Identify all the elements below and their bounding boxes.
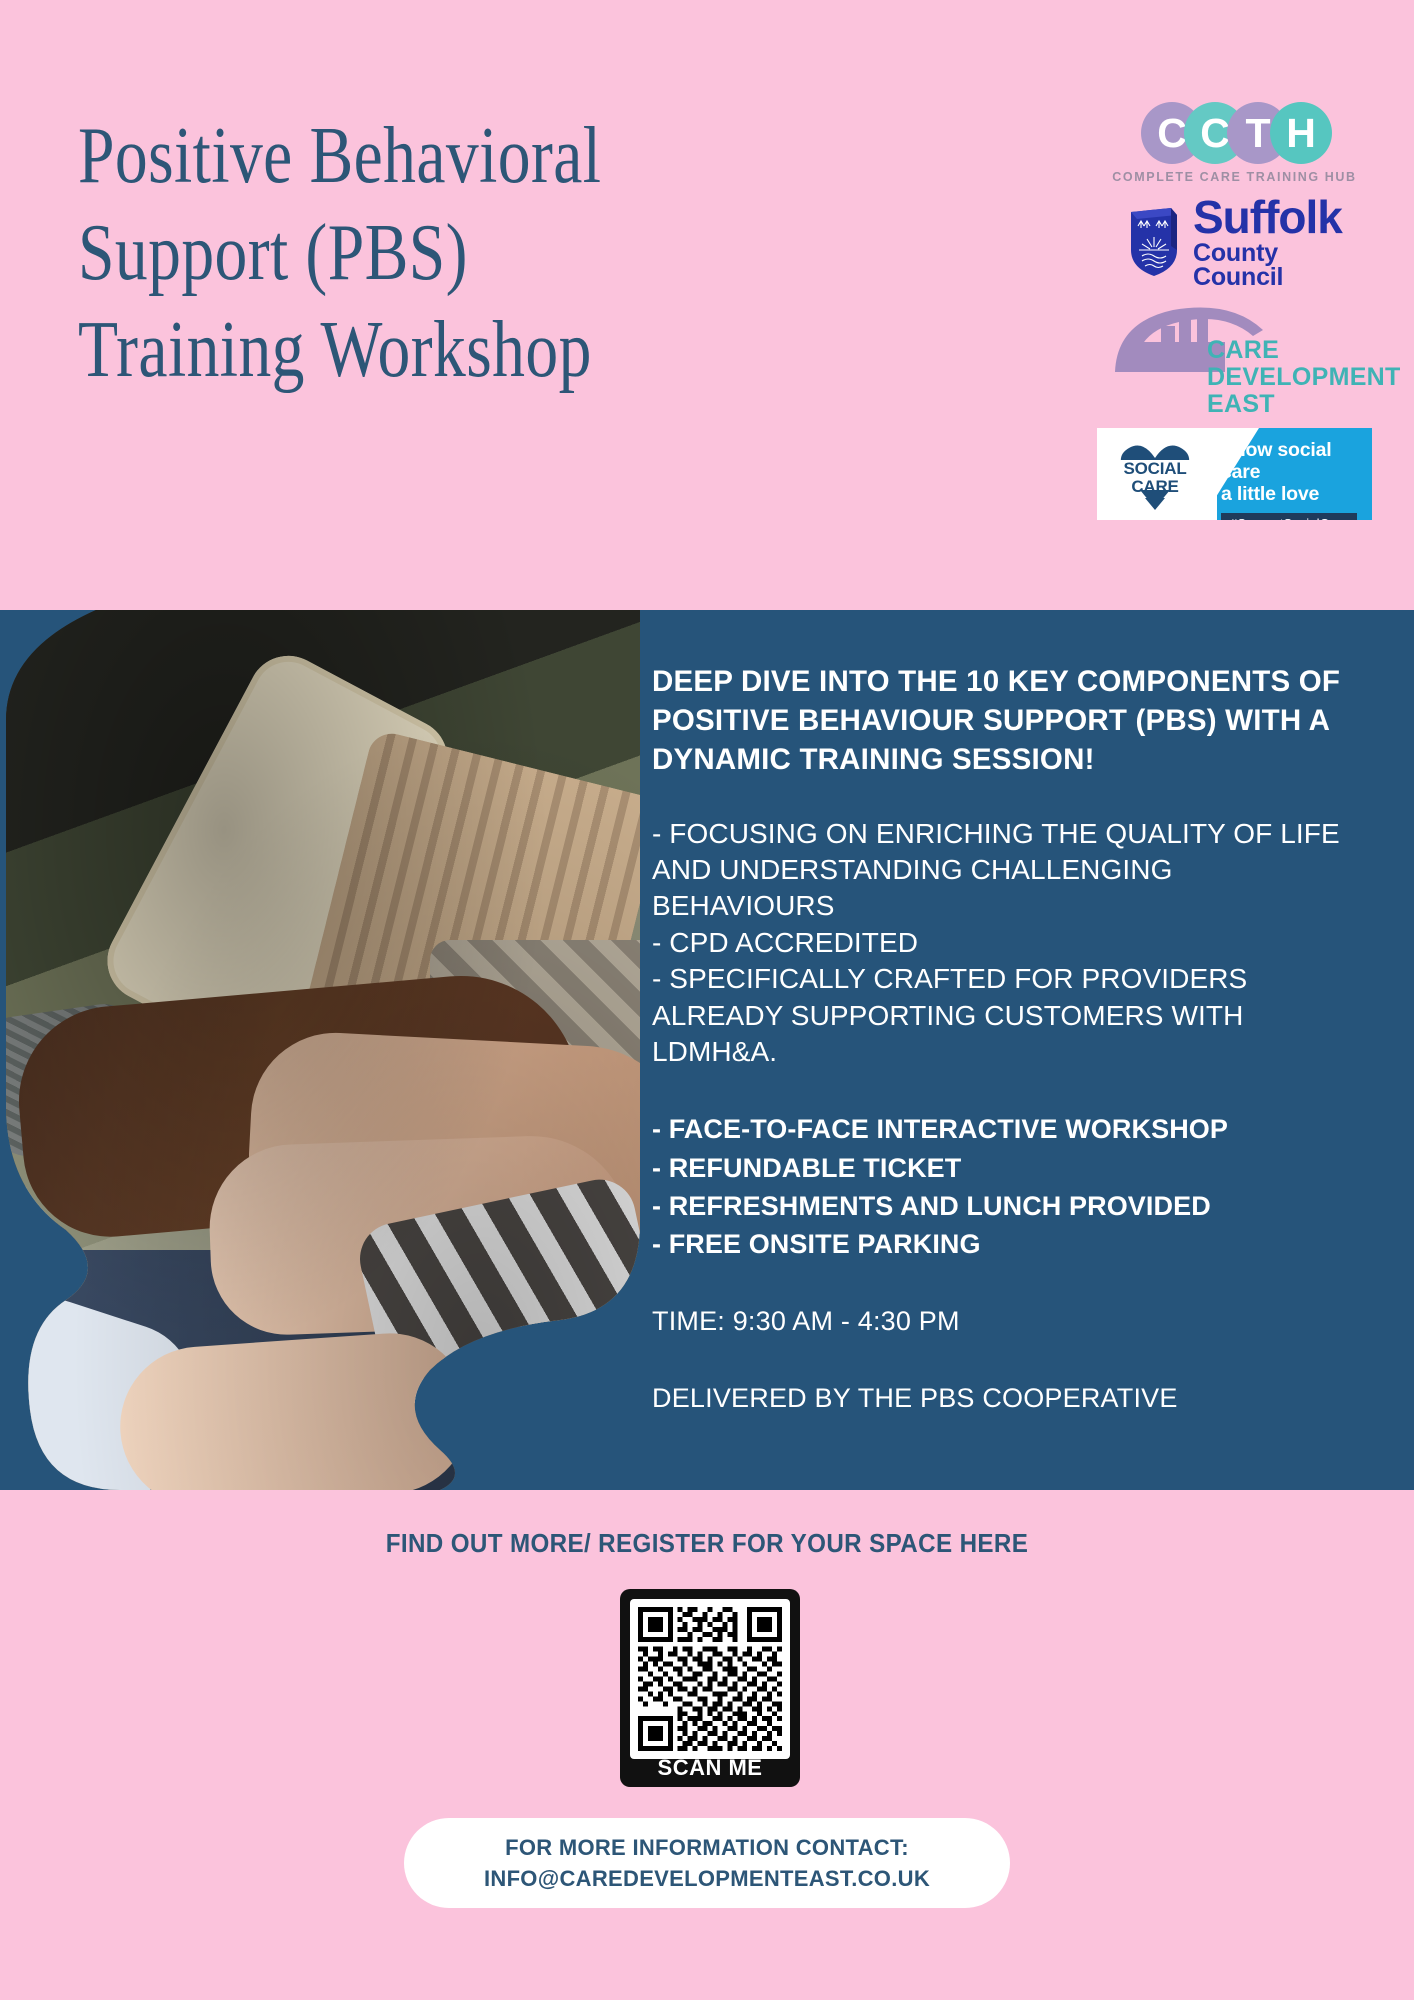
main-headline: DEEP DIVE INTO THE 10 KEY COMPONENTS OF …	[652, 662, 1352, 780]
cde-line-1: CARE	[1207, 337, 1401, 364]
poster-header: Positive Behavioral Support (PBS) Traini…	[0, 0, 1414, 610]
title-line-1: Positive Behavioral	[78, 108, 800, 205]
ccth-logo: C C T H COMPLETE CARE TRAINING HUB	[1097, 100, 1372, 178]
social-care-heart-icon: SOCIAL CARE	[1109, 438, 1201, 510]
social-care-badge-line-2: CARE	[1131, 477, 1178, 496]
photo-layers	[0, 610, 640, 1490]
suffolk-wordmark: Suffolk County Council	[1193, 195, 1372, 289]
suffolk-county-council-logo: Suffolk County Council	[1097, 202, 1372, 282]
main-content-band: DEEP DIVE INTO THE 10 KEY COMPONENTS OF …	[0, 610, 1414, 1490]
social-care-message: Show social care a little love #SupportS…	[1221, 439, 1371, 520]
contact-line-2: INFO@CAREDEVELOPMENTEAST.CO.UK	[484, 1863, 930, 1894]
poster-footer: FIND OUT MORE/ REGISTER FOR YOUR SPACE H…	[0, 1490, 1414, 2000]
suffolk-line-2: County Council	[1193, 241, 1372, 290]
qr-code-block[interactable]: SCAN ME	[620, 1589, 800, 1787]
ccth-circles-icon: C C T H	[1141, 102, 1331, 164]
social-care-badge-text: SOCIAL CARE	[1109, 460, 1201, 495]
scan-me-label: SCAN ME	[620, 1751, 800, 1785]
main-paragraph: - FOCUSING ON ENRICHING THE QUALITY OF L…	[652, 816, 1352, 1071]
photo-shading	[0, 610, 640, 1490]
cde-line-2: DEVELOPMENT	[1207, 364, 1401, 391]
social-care-slogan-2: a little love	[1221, 483, 1371, 505]
ccth-subtitle: COMPLETE CARE TRAINING HUB	[1097, 170, 1372, 184]
hands-photo	[0, 610, 640, 1490]
social-care-banner: SOCIAL CARE Show social care a little lo…	[1097, 428, 1372, 520]
qr-code-icon[interactable]	[630, 1599, 790, 1759]
social-care-hashtag: #SupportSocialCare	[1221, 513, 1357, 520]
social-care-slogan-1: Show social care	[1221, 439, 1371, 483]
session-time: TIME: 9:30 AM - 4:30 PM	[652, 1306, 1352, 1337]
contact-line-1: FOR MORE INFORMATION CONTACT:	[505, 1832, 909, 1863]
register-cta[interactable]: FIND OUT MORE/ REGISTER FOR YOUR SPACE H…	[49, 1528, 1364, 1559]
logo-stack: C C T H COMPLETE CARE TRAINING HUB	[1097, 100, 1372, 520]
ccth-letter-4: H	[1270, 102, 1332, 164]
suffolk-line-1: Suffolk	[1193, 195, 1372, 240]
title-line-2: Support (PBS)	[78, 205, 800, 302]
contact-pill[interactable]: FOR MORE INFORMATION CONTACT: INFO@CARED…	[404, 1818, 1010, 1908]
main-bold-points: - FACE-TO-FACE INTERACTIVE WORKSHOP - RE…	[652, 1110, 1352, 1263]
care-development-east-logo: CARE DEVELOPMENT EAST	[1097, 302, 1372, 412]
social-care-badge-line-1: SOCIAL	[1123, 459, 1186, 478]
cde-wordmark: CARE DEVELOPMENT EAST	[1207, 337, 1401, 417]
cde-line-3: EAST	[1207, 391, 1401, 418]
suffolk-shield-icon	[1125, 206, 1181, 278]
poster-root: Positive Behavioral Support (PBS) Traini…	[0, 0, 1414, 2000]
title-line-3: Training Workshop	[78, 302, 800, 399]
main-copy-column: DEEP DIVE INTO THE 10 KEY COMPONENTS OF …	[652, 610, 1352, 1414]
page-title: Positive Behavioral Support (PBS) Traini…	[78, 108, 800, 398]
delivered-by: DELIVERED BY THE PBS COOPERATIVE	[652, 1383, 1352, 1414]
